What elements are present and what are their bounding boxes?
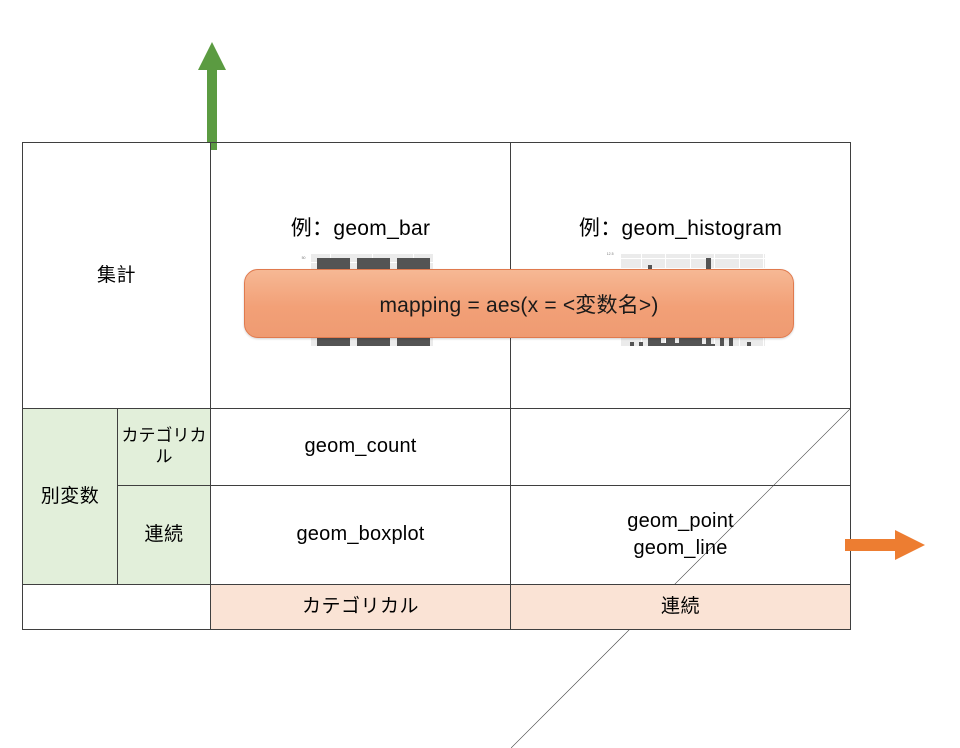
mapping-banner-label: mapping = aes(x = <変数名>) [379, 289, 658, 319]
column-header-categorical: カテゴリカル [211, 585, 511, 630]
table-row: 連続 geom_boxplot geom_point geom_line [23, 485, 851, 584]
histogram-bar [630, 342, 635, 346]
histogram-bar [639, 342, 644, 346]
row-subheader-categorical-label: カテゴリカル [122, 426, 207, 466]
row-header-aggregate: 集計 [23, 143, 211, 409]
row-header-other-variable: 別変数 [23, 408, 118, 584]
row-header-other-variable-label: 別変数 [41, 486, 100, 507]
column-header-categorical-label: カテゴリカル [302, 596, 419, 617]
column-header-continuous-label: 連続 [661, 596, 700, 617]
geom-point-line-label: geom_point geom_line [627, 510, 734, 559]
geom-decision-matrix: 集計 例：geom_bar count 50 40 30 20 [22, 142, 851, 630]
histogram-bar [711, 344, 716, 347]
row-subheader-continuous-label: 連続 [145, 524, 184, 545]
cell-categorical-continuous-crossed [511, 408, 851, 485]
table-row: 別変数 カテゴリカル geom_count [23, 408, 851, 485]
row-subheader-categorical: カテゴリカル [118, 408, 211, 485]
example-title-geom-histogram: 例：geom_histogram [511, 212, 850, 242]
mapping-banner: mapping = aes(x = <変数名>) [244, 269, 794, 338]
cell-continuous-categorical: geom_boxplot [211, 485, 511, 584]
cell-continuous-continuous: geom_point geom_line [511, 485, 851, 584]
example-title-geom-bar: 例：geom_bar [211, 212, 510, 242]
table-row: カテゴリカル 連続 [23, 585, 851, 630]
cell-categorical-categorical: geom_count [211, 408, 511, 485]
row-subheader-continuous: 連続 [118, 485, 211, 584]
row-header-aggregate-label: 集計 [97, 265, 136, 286]
geom-count-label: geom_count [304, 435, 416, 457]
geom-boxplot-label: geom_boxplot [296, 523, 424, 545]
x-axis-arrow-icon [845, 528, 927, 562]
y-axis-arrow-icon [196, 40, 228, 150]
histogram-bar [747, 342, 752, 346]
column-header-continuous: 連続 [511, 585, 851, 630]
corner-cell-empty [23, 585, 211, 630]
